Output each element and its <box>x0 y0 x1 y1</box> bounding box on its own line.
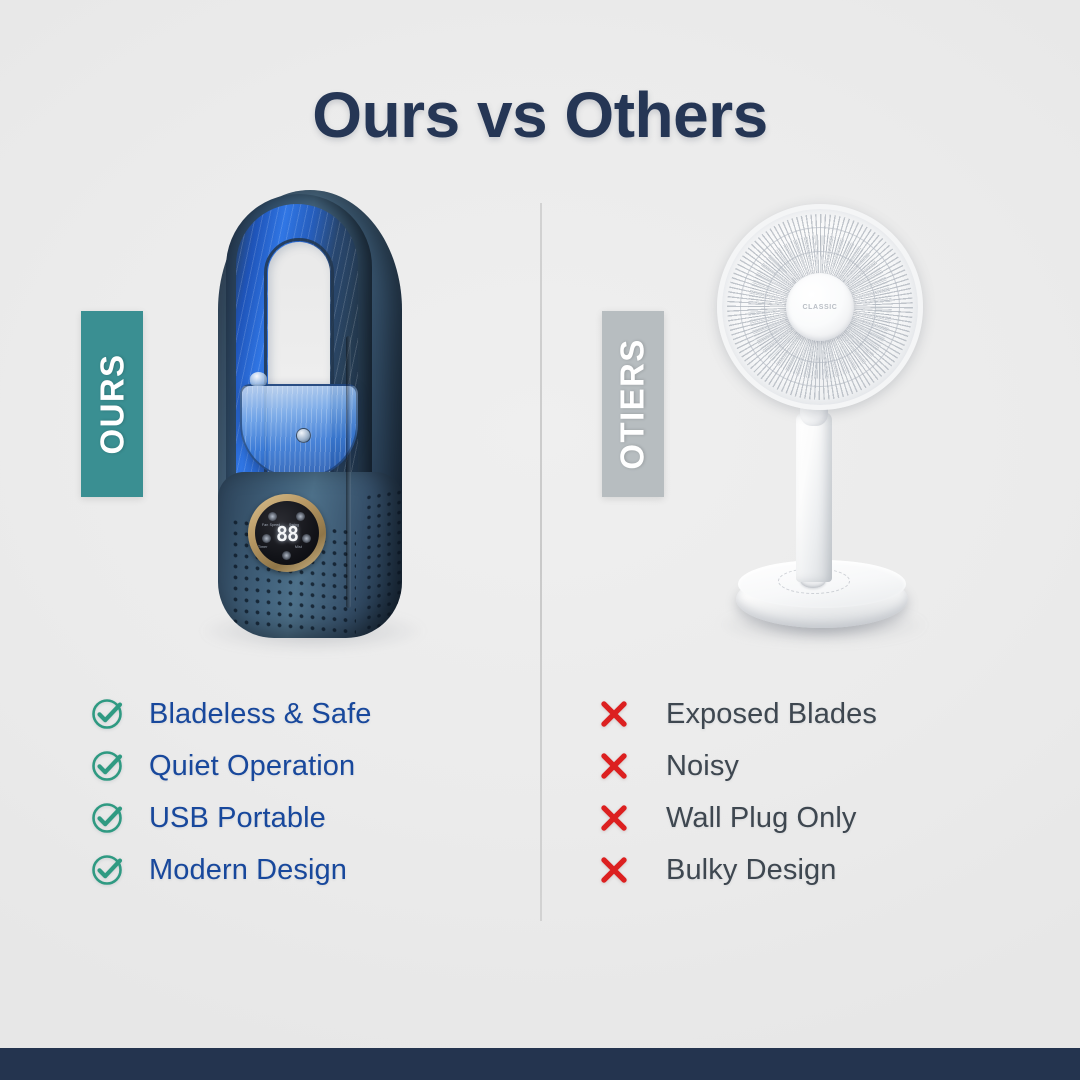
fan-cage: CLASSIC <box>717 204 923 410</box>
cross-icon <box>598 802 642 834</box>
list-item-label: Exposed Blades <box>666 698 877 731</box>
infographic-canvas: Ours vs Others OURS OTIERS <box>0 0 1080 1080</box>
digital-display: 88 <box>255 522 319 546</box>
check-circle-icon <box>90 800 134 836</box>
power-button-icon[interactable] <box>268 512 277 521</box>
badge-others-label: OTIERS <box>614 338 652 469</box>
control-panel-face: Fan Speed Swing Timer Mist 88 <box>255 501 319 565</box>
mist-water-tank <box>240 384 358 478</box>
list-item: Noisy <box>598 740 877 792</box>
badge-others: OTIERS <box>602 311 664 497</box>
list-item-label: Bladeless & Safe <box>149 698 371 731</box>
list-item: Bladeless & Safe <box>90 688 371 740</box>
list-item-label: Modern Design <box>149 854 347 887</box>
list-item-label: Bulky Design <box>666 854 836 887</box>
feature-list-ours: Bladeless & Safe Quiet Operation USB Por… <box>90 688 371 896</box>
list-item: Quiet Operation <box>90 740 371 792</box>
tower-seam <box>346 336 351 608</box>
fan-head: CLASSIC <box>717 204 923 410</box>
check-circle-icon <box>90 696 134 732</box>
fan-hub-cap: CLASSIC <box>786 273 854 341</box>
list-item: Wall Plug Only <box>598 792 877 844</box>
cross-icon <box>598 854 642 886</box>
product-image-ours: Fan Speed Swing Timer Mist 88 <box>196 186 446 656</box>
center-divider <box>540 203 542 921</box>
air-intake-mesh-side <box>364 487 402 635</box>
list-item: Bulky Design <box>598 844 877 896</box>
fan-brand-label: CLASSIC <box>803 304 838 311</box>
page-title: Ours vs Others <box>0 78 1080 152</box>
pedestal-pole <box>796 412 832 582</box>
check-circle-icon <box>90 852 134 888</box>
badge-ours: OURS <box>81 311 143 497</box>
speed-button-icon[interactable] <box>296 512 305 521</box>
feature-list-others: Exposed Blades Noisy Wall Plug Only <box>598 688 877 896</box>
check-circle-icon <box>90 748 134 784</box>
list-item-label: Wall Plug Only <box>666 802 857 835</box>
cross-icon <box>598 750 642 782</box>
mist-nozzle-icon <box>250 372 267 386</box>
list-item: Exposed Blades <box>598 688 877 740</box>
list-item-label: USB Portable <box>149 802 326 835</box>
product-image-others: CLASSIC <box>700 198 940 648</box>
cross-icon <box>598 698 642 730</box>
bottom-bar <box>0 1048 1080 1080</box>
control-panel[interactable]: Fan Speed Swing Timer Mist 88 <box>248 494 326 572</box>
list-item: USB Portable <box>90 792 371 844</box>
list-item: Modern Design <box>90 844 371 896</box>
list-item-label: Noisy <box>666 750 739 783</box>
badge-ours-label: OURS <box>93 354 131 455</box>
list-item-label: Quiet Operation <box>149 750 355 783</box>
swing-button-icon[interactable] <box>282 551 291 560</box>
tank-cap-icon <box>296 428 311 443</box>
